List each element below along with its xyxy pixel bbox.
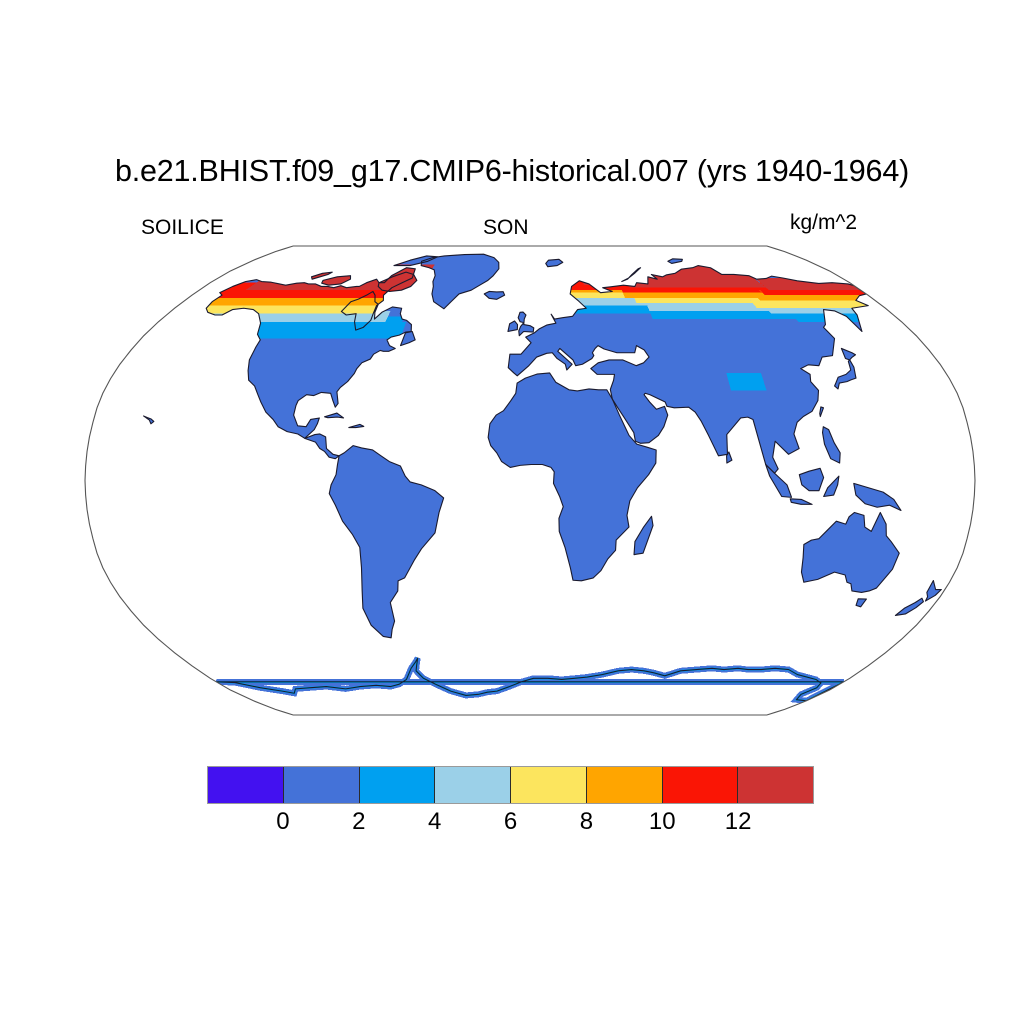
colorbar-tick-0: 0	[276, 807, 289, 836]
colorbar-tick-8: 8	[580, 807, 593, 836]
colorbar: 024681012	[207, 766, 814, 804]
colorbar-tick-10: 10	[649, 807, 676, 836]
colorbar-tick-6: 6	[504, 807, 517, 836]
colorbar-segment-4	[511, 767, 587, 803]
map-frame	[85, 246, 975, 715]
colorbar-strip[interactable]	[207, 766, 814, 804]
land-fill-southamerica	[329, 446, 443, 638]
colorbar-segment-7	[738, 767, 813, 803]
coastline-hawaii	[144, 416, 154, 424]
land-fill-australia	[801, 512, 899, 592]
data-band-0-6	[726, 373, 766, 390]
soilice-data-layer	[144, 254, 942, 701]
colorbar-segment-3	[435, 767, 511, 803]
colorbar-segment-1	[284, 767, 360, 803]
colorbar-tick-labels: 024681012	[207, 807, 814, 837]
land-fill-newzealand_s	[895, 598, 923, 615]
coastline-novaya	[622, 268, 641, 282]
world-map-plot	[0, 0, 1024, 1024]
colorbar-segment-5	[587, 767, 663, 803]
colorbar-tick-12: 12	[725, 807, 752, 836]
colorbar-segment-6	[663, 767, 739, 803]
land-fill-madagascar	[634, 516, 653, 554]
colorbar-segment-2	[360, 767, 436, 803]
colorbar-segment-0	[208, 767, 284, 803]
colorbar-tick-4: 4	[428, 807, 441, 836]
land-fill-japan	[835, 348, 856, 388]
colorbar-tick-2: 2	[352, 807, 365, 836]
land-fill-newguinea	[854, 483, 901, 510]
land-fill-sumatra	[766, 465, 792, 498]
